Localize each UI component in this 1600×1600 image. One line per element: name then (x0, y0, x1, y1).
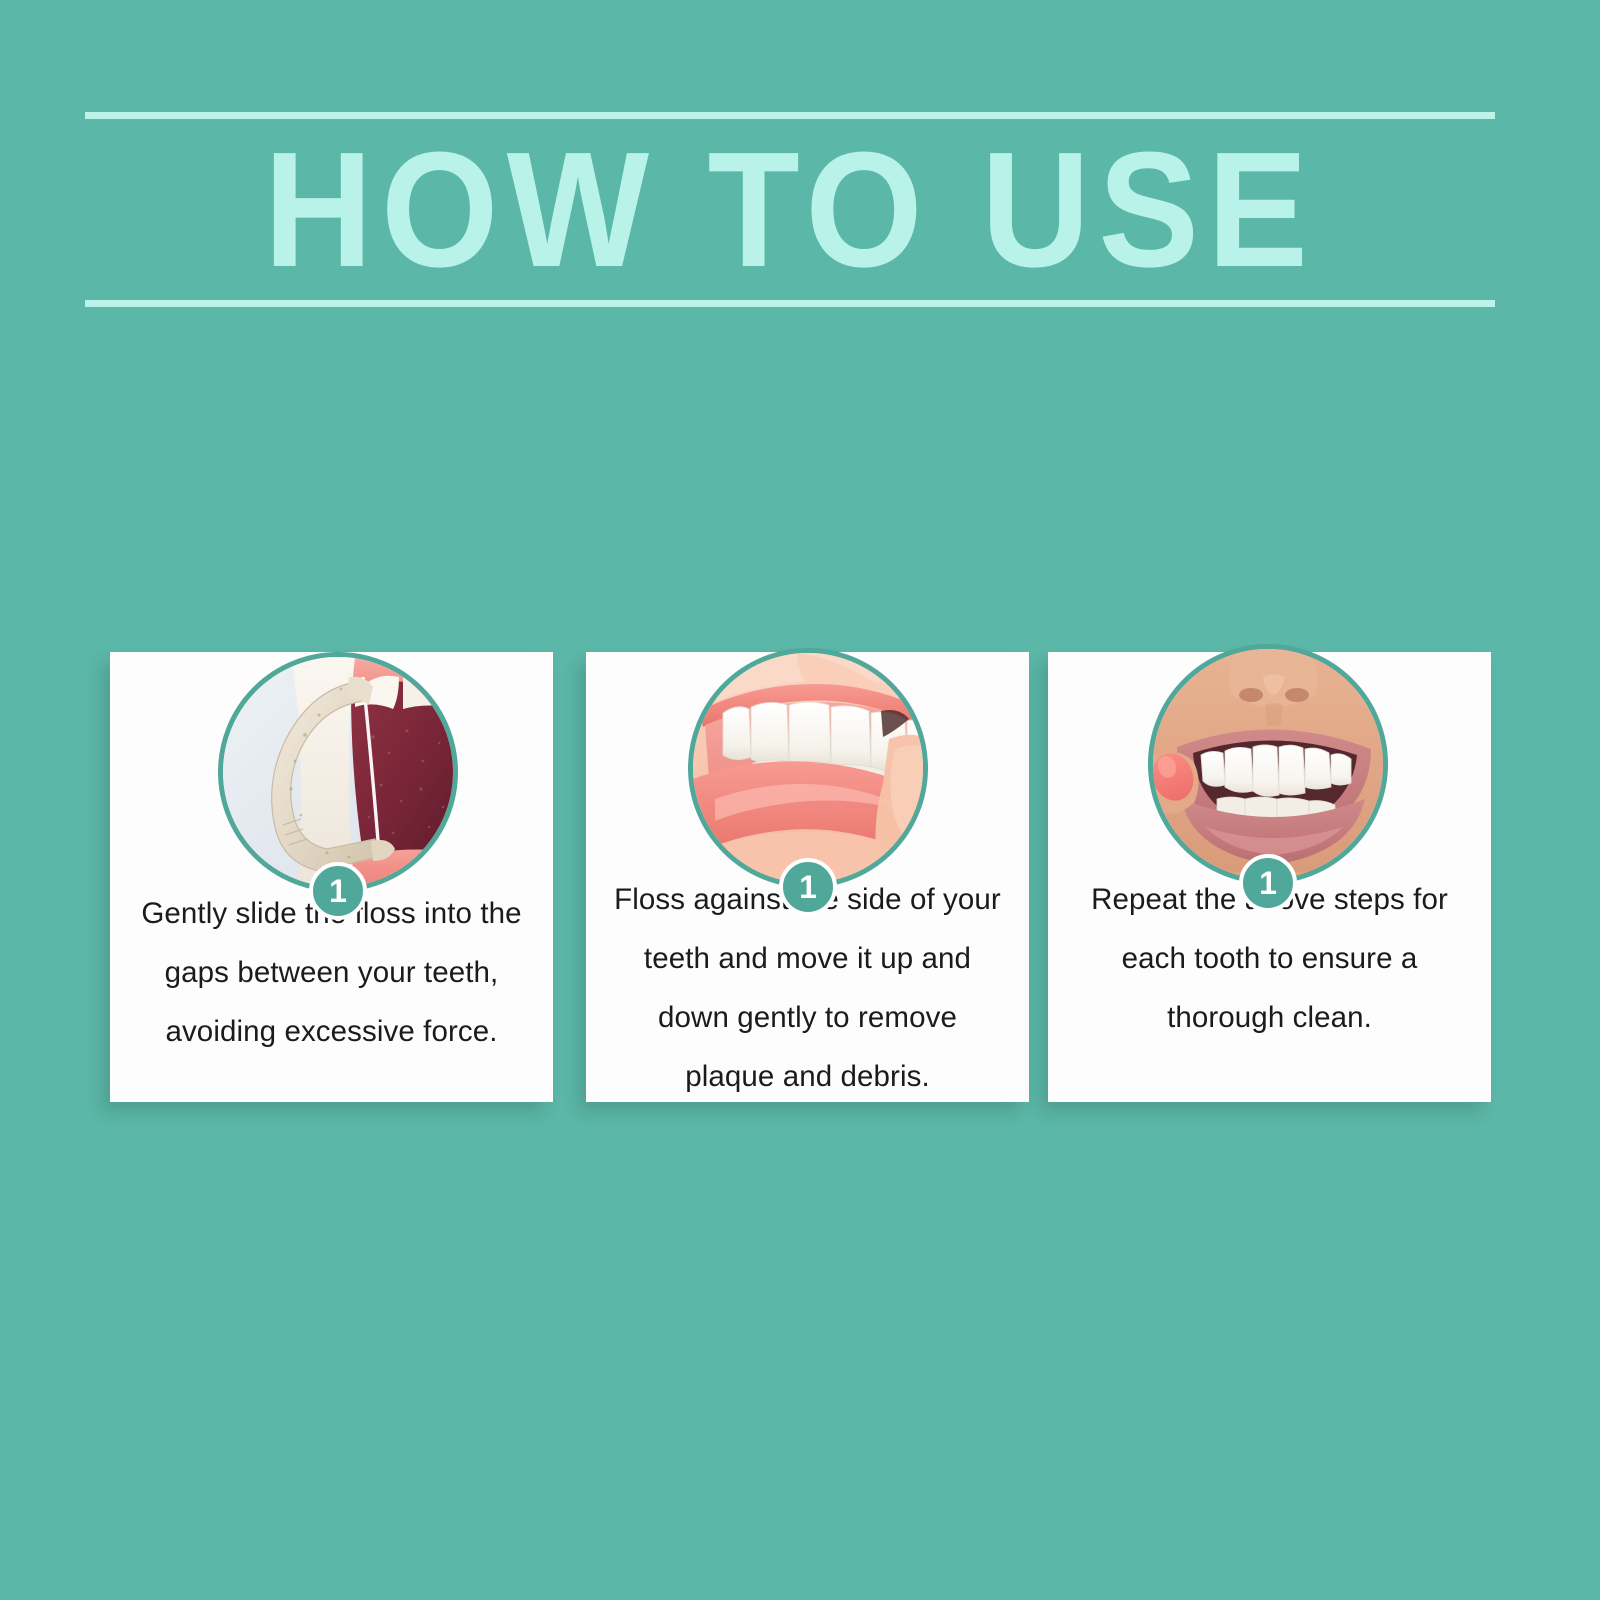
step-2-photo-wrap: 1 (688, 648, 928, 888)
smiling-mouth-illustration (1153, 649, 1383, 879)
teeth-side-view-illustration (693, 653, 923, 883)
smiling-mouth-photo (1148, 644, 1388, 884)
step-1-photo-wrap: 1 (218, 652, 458, 892)
step-3-badge: 1 (1239, 854, 1297, 912)
step-card-1: 1 Gently slide the floss into the gaps b… (110, 652, 553, 1102)
step-2-badge: 1 (779, 858, 837, 916)
teeth-side-view-photo (688, 648, 928, 888)
header-banner: HOW TO USE (85, 112, 1495, 307)
step-card-2: 1 Floss against the side of your teeth a… (586, 652, 1029, 1102)
step-1-badge: 1 (309, 862, 367, 920)
floss-pick-illustration (223, 657, 453, 887)
step-card-3: 1 Repeat the above steps for each tooth … (1048, 652, 1491, 1102)
step-3-photo-wrap: 1 (1148, 644, 1388, 884)
header-rule-bottom (85, 300, 1495, 307)
floss-pick-photo (218, 652, 458, 892)
steps-container: 1 Gently slide the floss into the gaps b… (110, 560, 1500, 1105)
page-title: HOW TO USE (141, 128, 1438, 292)
